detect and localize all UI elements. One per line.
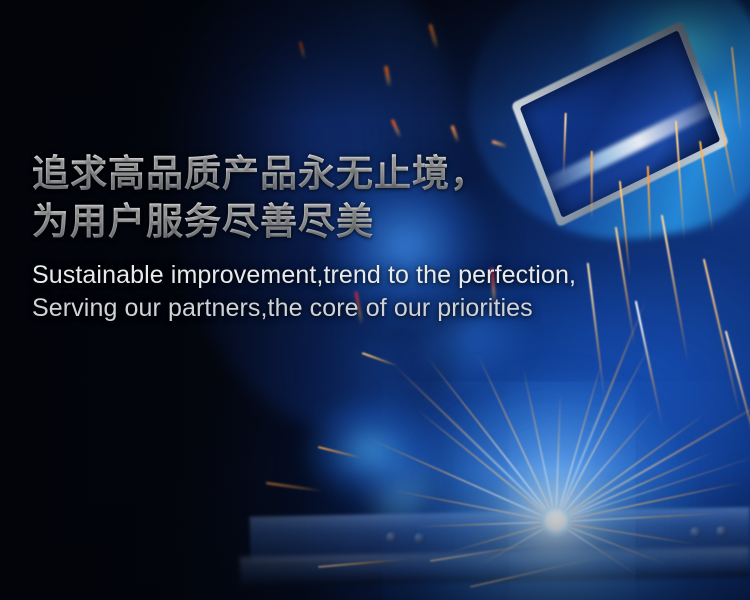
subhead-en-line-1: Sustainable improvement,trend to the per… xyxy=(32,259,692,292)
subhead-en-line-2: Serving our partners,the core of our pri… xyxy=(32,292,692,325)
bolt-hole xyxy=(690,527,701,538)
spark-streak xyxy=(703,259,741,415)
bolt-hole xyxy=(386,532,397,543)
bolt-hole xyxy=(414,533,425,544)
welding-hero-banner: 追求高品质产品永无止境， 追求高品质产品永无止境， 为用户服务尽善尽美 为用户服… xyxy=(0,0,750,600)
weld-smoke-plume xyxy=(430,330,690,530)
subhead-block: Sustainable improvement,trend to the per… xyxy=(32,259,692,325)
headline-cn-line-1: 追求高品质产品永无止境， xyxy=(32,150,692,198)
weld-arc-core xyxy=(540,505,572,537)
headline-cn-line-2: 为用户服务尽善尽美 xyxy=(32,198,692,246)
bolt-hole xyxy=(716,526,727,537)
headline-block: 追求高品质产品永无止境， 追求高品质产品永无止境， 为用户服务尽善尽美 为用户服… xyxy=(32,150,692,325)
spark-streak xyxy=(725,331,750,457)
